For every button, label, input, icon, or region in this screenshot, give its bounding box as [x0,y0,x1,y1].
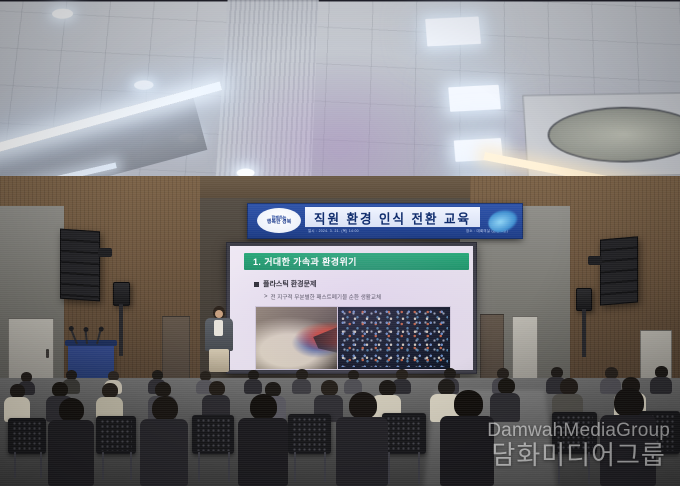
presenter-face [215,310,223,318]
person-head [454,390,483,418]
door-handle-icon [46,349,49,358]
banner-title: 직원 환경 인식 전환 교육 [314,207,471,227]
presenter-trousers [209,349,229,372]
person-head [560,378,578,395]
slide-bullet-primary: 플라스틱 환경문제 [254,279,316,289]
seminar-hall-photograph: 함께하는 행복한 경북 직원 환경 인식 전환 교육 일시 : 2024. 3.… [0,0,680,486]
audience-member [344,370,362,394]
audience-member-foreground [336,392,388,486]
stage-monitor-speaker-right [576,288,592,311]
ceiling-led-panel [448,85,501,112]
speaker-stand-right [582,309,586,357]
audience-member [4,384,30,422]
person-head [102,383,118,398]
audience-member-foreground [238,394,288,486]
chair-leg [14,452,16,478]
door-right-plain [512,316,538,384]
arrow-bullet-icon: > [264,294,268,300]
chair-leg [228,452,230,482]
line-array-speaker-right [600,236,638,305]
square-bullet-icon [254,282,259,287]
podium-top-surface [65,340,117,346]
person-body [600,415,656,486]
audience-member-foreground [48,398,94,486]
speaker-yoke-right [588,256,602,265]
audience-member-foreground [600,388,656,486]
organization-logo: 함께하는 행복한 경북 [257,208,301,233]
presenter-shirt [214,320,223,336]
banner-date: 일시 : 2024. 3. 21. (목) 14:00 [308,228,359,233]
presenter [203,306,235,372]
person-body [238,418,288,486]
speaker-stand-left [119,304,123,356]
audience-chair [192,415,234,454]
logo-line-2: 행복한 경북 [267,220,291,225]
slide-bullet-secondary-text: 전 지구적 무분별한 패스트폐기물 순환 생활교체 [271,293,382,301]
chair-leg [40,452,42,478]
audience-member [490,378,520,422]
person-body [48,420,94,486]
chair-leg [558,452,560,484]
person-body [140,419,188,486]
slide-bullet-secondary: > 전 지구적 무분별한 패스트폐기물 순환 생활교체 [264,293,381,301]
slide-title: 1. 거대한 가속과 환경위기 [253,255,357,268]
projection-screen: 1. 거대한 가속과 환경위기 플라스틱 환경문제 > 전 지구적 무분별한 패… [226,242,477,374]
chair-leg [388,452,390,484]
person-head [10,384,25,398]
banner-title-plate: 직원 환경 인식 전환 교육 [305,207,480,227]
person-head [52,382,68,397]
audience-member-foreground [140,396,188,486]
audience-chair [96,416,136,454]
person-body [336,417,388,486]
line-array-speaker-left [60,229,100,302]
chair-leg [588,452,590,484]
slide-image-plastic-items-grid [337,306,451,370]
ceiling-led-panel [425,16,481,46]
presentation-slide: 1. 거대한 가속과 환경위기 플라스틱 환경문제 > 전 지구적 무분별한 패… [230,246,473,370]
speaker-yoke-left [98,248,112,257]
person-head [614,388,644,417]
plastic-items-pattern [340,309,448,367]
person-head [209,381,225,396]
audience-chair [552,412,597,454]
audience-member-foreground [440,390,494,486]
person-body [440,416,494,486]
stage-monitor-speaker-left [113,282,130,306]
chair-leg [198,452,200,482]
audience-chair [288,414,331,454]
chair-leg [130,452,132,480]
chair-leg [324,452,326,482]
person-body [292,379,311,394]
chair-leg [102,452,104,480]
person-head [250,394,277,420]
person-head [155,382,171,397]
slide-title-bar: 1. 거대한 가속과 환경위기 [244,253,469,270]
chair-leg [418,452,420,484]
audience-chair [8,418,46,454]
person-head [152,396,178,421]
person-head [349,392,377,419]
person-head [59,398,84,422]
door-left-inner [162,316,190,384]
person-body [490,393,520,422]
slide-bullet-primary-text: 플라스틱 환경문제 [263,279,316,289]
audience-member [292,369,311,394]
person-head [498,378,515,394]
event-banner: 함께하는 행복한 경북 직원 환경 인식 전환 교육 일시 : 2024. 3.… [247,203,523,239]
audience-chair [382,413,426,454]
banner-subline: 일시 : 2024. 3. 21. (목) 14:00 장소 : 대회의실 (본… [308,228,508,233]
chair-leg [294,452,296,482]
